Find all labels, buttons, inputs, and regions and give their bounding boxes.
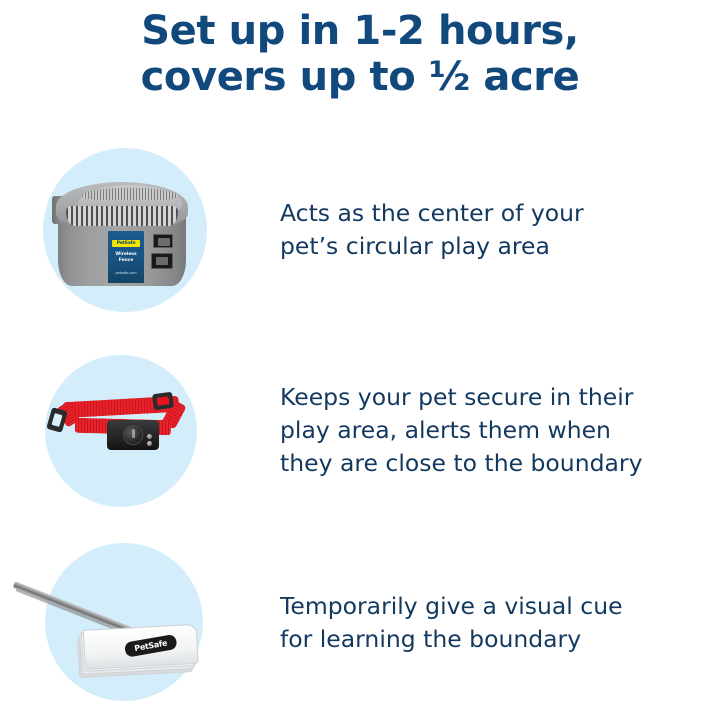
- receiver-dial: [123, 425, 143, 445]
- flag-stack: PetSafe: [77, 624, 197, 678]
- feature-text-line: pet’s circular play area: [280, 230, 706, 263]
- collar-illustration: [45, 387, 205, 467]
- transmitter-label-url: petsafe.com: [108, 271, 144, 276]
- transmitter-port-upper: [153, 234, 173, 248]
- transmitter-vent-upper: [82, 188, 178, 200]
- petsafe-logo-badge: PetSafe: [112, 240, 140, 247]
- feature-description-transmitter: Acts as the center of your pet’s circula…: [250, 197, 720, 263]
- transmitter-label-product-line-2: Fence: [108, 258, 144, 264]
- feature-thumbnail-transmitter: PetSafe Wireless Fence petsafe.com: [0, 140, 250, 320]
- feature-text-line: for learning the boundary: [280, 623, 706, 656]
- transmitter-illustration: PetSafe Wireless Fence petsafe.com: [48, 176, 198, 296]
- feature-row-transmitter: PetSafe Wireless Fence petsafe.com Acts …: [0, 140, 720, 320]
- headline-fraction-half: ½: [429, 54, 470, 100]
- collar-buckle-left: [46, 407, 67, 433]
- feature-description-flags: Temporarily give a visual cue for learni…: [250, 590, 720, 656]
- transmitter-port-slot: [158, 238, 170, 246]
- headline-line-2: covers up to ½ acre: [0, 54, 720, 100]
- transmitter-port-lower: [151, 253, 173, 269]
- feature-row-flags: PetSafe Temporarily give a visual cue fo…: [0, 535, 720, 710]
- receiver-contact-point: [147, 441, 152, 446]
- collar-buckle-right: [152, 392, 174, 411]
- transmitter-port-slot: [156, 257, 168, 265]
- feature-text-line: they are close to the boundary: [280, 447, 706, 480]
- transmitter-product-label: PetSafe Wireless Fence petsafe.com: [108, 231, 144, 283]
- feature-text-line: Keeps your pet secure in their: [280, 381, 706, 414]
- flag-sheet: PetSafe: [83, 624, 199, 670]
- receiver-contact-point: [147, 434, 152, 439]
- headline-line-2-suffix: acre: [470, 54, 580, 100]
- feature-thumbnail-flags: PetSafe: [0, 535, 250, 710]
- feature-text-line: Acts as the center of your: [280, 197, 706, 230]
- headline-line-1: Set up in 1-2 hours,: [0, 8, 720, 54]
- feature-description-collar: Keeps your pet secure in their play area…: [250, 381, 720, 480]
- feature-text-line: play area, alerts them when: [280, 414, 706, 447]
- page-title: Set up in 1-2 hours, covers up to ½ acre: [0, 8, 720, 100]
- petsafe-flag-badge: PetSafe: [124, 634, 178, 658]
- boundary-flags-illustration: PetSafe: [10, 545, 230, 695]
- feature-thumbnail-collar: [0, 345, 250, 515]
- product-feature-graphic: Set up in 1-2 hours, covers up to ½ acre…: [0, 0, 720, 720]
- headline-line-2-prefix: covers up to: [141, 54, 429, 100]
- collar-receiver-unit: [107, 420, 159, 450]
- feature-text-line: Temporarily give a visual cue: [280, 590, 706, 623]
- feature-row-collar: Keeps your pet secure in their play area…: [0, 345, 720, 515]
- transmitter-vent-lower: [66, 206, 178, 226]
